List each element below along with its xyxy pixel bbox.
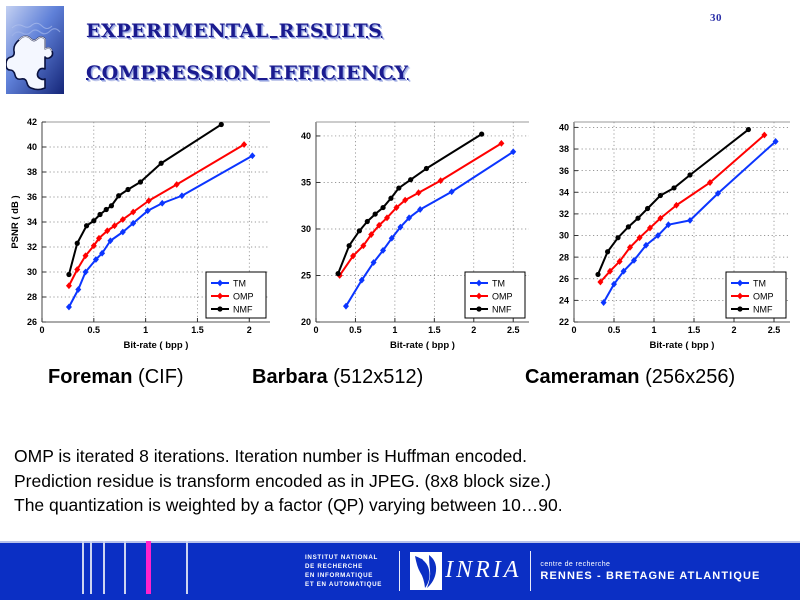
svg-text:30: 30 xyxy=(27,267,37,277)
page-number: 30 xyxy=(710,12,722,24)
footer-accent-stripe xyxy=(146,541,151,594)
x-axis-label: Bit-rate ( bpp ) xyxy=(390,340,455,351)
svg-text:32: 32 xyxy=(27,242,37,252)
caption-name: Cameraman xyxy=(525,366,640,388)
svg-text:25: 25 xyxy=(301,271,311,281)
chart-barbara: 202530354000.511.522.5Bit-rate ( bpp )TM… xyxy=(282,112,537,362)
svg-text:42: 42 xyxy=(27,117,37,127)
body-line-2: Prediction residue is transform encoded … xyxy=(14,469,744,494)
svg-text:40: 40 xyxy=(301,131,311,141)
slide-title: Experimental Results Compression Efficie… xyxy=(86,8,706,92)
inria-wordmark-text: INRIA xyxy=(443,557,521,584)
chart-svg-foreman: 26283032343638404200.511.52Bit-rate ( bp… xyxy=(8,112,278,362)
chart-cameraman: 2224262830323436384000.511.522.5Bit-rate… xyxy=(540,112,798,362)
caption-detail: (512x512) xyxy=(333,366,423,388)
svg-text:40: 40 xyxy=(27,142,37,152)
svg-text:0: 0 xyxy=(39,325,44,335)
svg-text:1.5: 1.5 xyxy=(428,325,441,335)
svg-text:24: 24 xyxy=(559,296,569,306)
svg-text:2: 2 xyxy=(731,325,736,335)
chart-svg-cameraman: 2224262830323436384000.511.522.5Bit-rate… xyxy=(540,112,798,362)
chart-legend: TMOMPNMF xyxy=(726,272,786,318)
title-line-1: Experimental Results xyxy=(86,8,706,50)
chart-legend: TMOMPNMF xyxy=(465,272,525,318)
svg-text:30: 30 xyxy=(559,231,569,241)
svg-text:1: 1 xyxy=(392,325,397,335)
x-axis-label: Bit-rate ( bpp ) xyxy=(650,340,715,351)
svg-text:28: 28 xyxy=(27,292,37,302)
svg-text:36: 36 xyxy=(559,166,569,176)
footer-stripe xyxy=(124,541,126,594)
legend-label-nmf: NMF xyxy=(492,304,512,314)
inria-logo-block: INSTITUT NATIONAL DE RECHERCHE EN INFORM… xyxy=(305,547,760,594)
legend-label-omp: OMP xyxy=(492,291,513,301)
caption-name: Barbara xyxy=(252,366,328,388)
footer-stripe xyxy=(186,541,188,594)
legend-label-tm: TM xyxy=(753,278,766,288)
footer-stripe xyxy=(82,541,84,594)
svg-text:1: 1 xyxy=(651,325,656,335)
svg-text:0.5: 0.5 xyxy=(608,325,621,335)
footer-top-rule xyxy=(0,541,800,543)
svg-text:0: 0 xyxy=(571,325,576,335)
svg-text:28: 28 xyxy=(559,252,569,262)
svg-text:1.5: 1.5 xyxy=(191,325,204,335)
legend-label-omp: OMP xyxy=(233,291,254,301)
body-text: OMP is iterated 8 iterations. Iteration … xyxy=(14,444,744,518)
body-line-3: The quantization is weighted by a factor… xyxy=(14,493,744,518)
chart-captions: Foreman (CIF) Barbara (512x512) Camerama… xyxy=(0,366,800,396)
svg-text:2.5: 2.5 xyxy=(768,325,781,335)
svg-text:34: 34 xyxy=(27,217,37,227)
caption-foreman: Foreman (CIF) xyxy=(48,366,184,389)
footer-divider xyxy=(399,551,400,591)
footer-bar: INSTITUT NATIONAL DE RECHERCHE EN INFORM… xyxy=(0,541,800,600)
legend-label-tm: TM xyxy=(233,278,246,288)
caption-detail: (CIF) xyxy=(138,366,184,388)
svg-text:0.5: 0.5 xyxy=(349,325,362,335)
svg-text:35: 35 xyxy=(301,178,311,188)
svg-text:38: 38 xyxy=(27,167,37,177)
legend-label-omp: OMP xyxy=(753,291,774,301)
inria-institute-text: INSTITUT NATIONAL DE RECHERCHE EN INFORM… xyxy=(305,553,390,589)
footer-stripe xyxy=(103,541,105,594)
chart-legend: TMOMPNMF xyxy=(206,272,266,318)
svg-text:0: 0 xyxy=(313,325,318,335)
institute-line-2: DE RECHERCHE xyxy=(305,562,382,571)
institute-line-3: EN INFORMATIQUE xyxy=(305,571,382,580)
svg-text:30: 30 xyxy=(301,224,311,234)
x-axis-label: Bit-rate ( bpp ) xyxy=(124,340,189,351)
svg-text:40: 40 xyxy=(559,123,569,133)
slide-root: 30 Experimental Results Compression Effi… xyxy=(0,0,800,600)
svg-text:38: 38 xyxy=(559,144,569,154)
institute-line-4: ET EN AUTOMATIQUE xyxy=(305,580,382,589)
svg-text:2: 2 xyxy=(247,325,252,335)
svg-text:20: 20 xyxy=(301,317,311,327)
caption-barbara: Barbara (512x512) xyxy=(252,366,423,389)
svg-text:2: 2 xyxy=(471,325,476,335)
inria-bird-icon xyxy=(409,550,443,592)
svg-text:2.5: 2.5 xyxy=(507,325,520,335)
legend-label-tm: TM xyxy=(492,278,505,288)
svg-text:26: 26 xyxy=(559,274,569,284)
chart-svg-barbara: 202530354000.511.522.5Bit-rate ( bpp )TM… xyxy=(282,112,537,362)
footer-stripe xyxy=(90,541,92,594)
svg-text:1.5: 1.5 xyxy=(688,325,701,335)
svg-text:0.5: 0.5 xyxy=(88,325,101,335)
svg-text:36: 36 xyxy=(27,192,37,202)
title-line-2: Compression Efficiency xyxy=(86,50,706,92)
center-name: RENNES - BRETAGNE ATLANTIQUE xyxy=(540,570,760,583)
caption-detail: (256x256) xyxy=(645,366,735,388)
body-line-1: OMP is iterated 8 iterations. Iteration … xyxy=(14,444,744,469)
caption-cameraman: Cameraman (256x256) xyxy=(525,366,735,389)
svg-text:1: 1 xyxy=(143,325,148,335)
svg-text:32: 32 xyxy=(559,209,569,219)
footer-divider xyxy=(530,551,531,591)
y-axis-label: PSNR ( dB ) xyxy=(10,195,21,248)
svg-text:34: 34 xyxy=(559,187,569,197)
caption-name: Foreman xyxy=(48,366,132,388)
puzzle-piece-icon xyxy=(6,6,64,94)
svg-text:26: 26 xyxy=(27,317,37,327)
svg-text:22: 22 xyxy=(559,317,569,327)
legend-label-nmf: NMF xyxy=(753,304,773,314)
legend-label-nmf: NMF xyxy=(233,304,253,314)
inria-center-text: centre de recherche RENNES - BRETAGNE AT… xyxy=(540,559,760,583)
institute-line-1: INSTITUT NATIONAL xyxy=(305,553,382,562)
chart-foreman: 26283032343638404200.511.52Bit-rate ( bp… xyxy=(8,112,278,362)
center-label: centre de recherche xyxy=(540,559,760,570)
inria-wordmark: INRIA xyxy=(409,550,521,592)
charts-row: 26283032343638404200.511.52Bit-rate ( bp… xyxy=(0,112,800,362)
